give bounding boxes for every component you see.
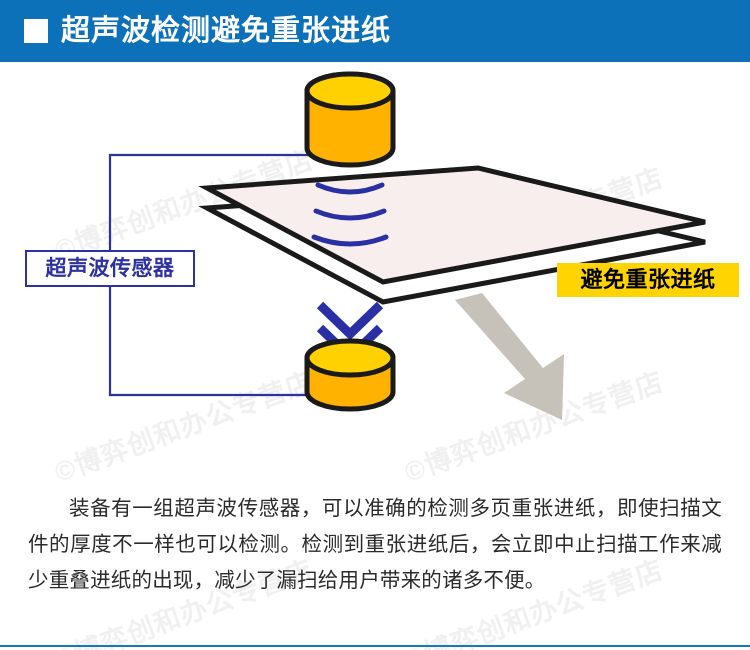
ultrasonic-receiver-cylinder [307,341,393,409]
sensor-label-box: 超声波传感器 [25,250,195,287]
body-paragraph: 装备有一组超声波传感器，可以准确的检测多页重张进纸，即使扫描文件的厚度不一样也可… [28,491,722,599]
ultrasonic-emitter-cylinder [307,74,393,165]
page-header: 超声波检测避免重张进纸 [0,0,750,62]
paper-feed-direction-arrow [455,293,564,420]
callout-label-box: 避免重张进纸 [557,263,739,297]
sensor-label-text: 超声波传感器 [46,258,175,279]
page-title: 超声波检测避免重张进纸 [61,17,391,46]
callout-label-text: 避免重张进纸 [580,269,715,291]
square-bullet-icon [24,19,48,43]
bottom-divider [0,645,750,647]
